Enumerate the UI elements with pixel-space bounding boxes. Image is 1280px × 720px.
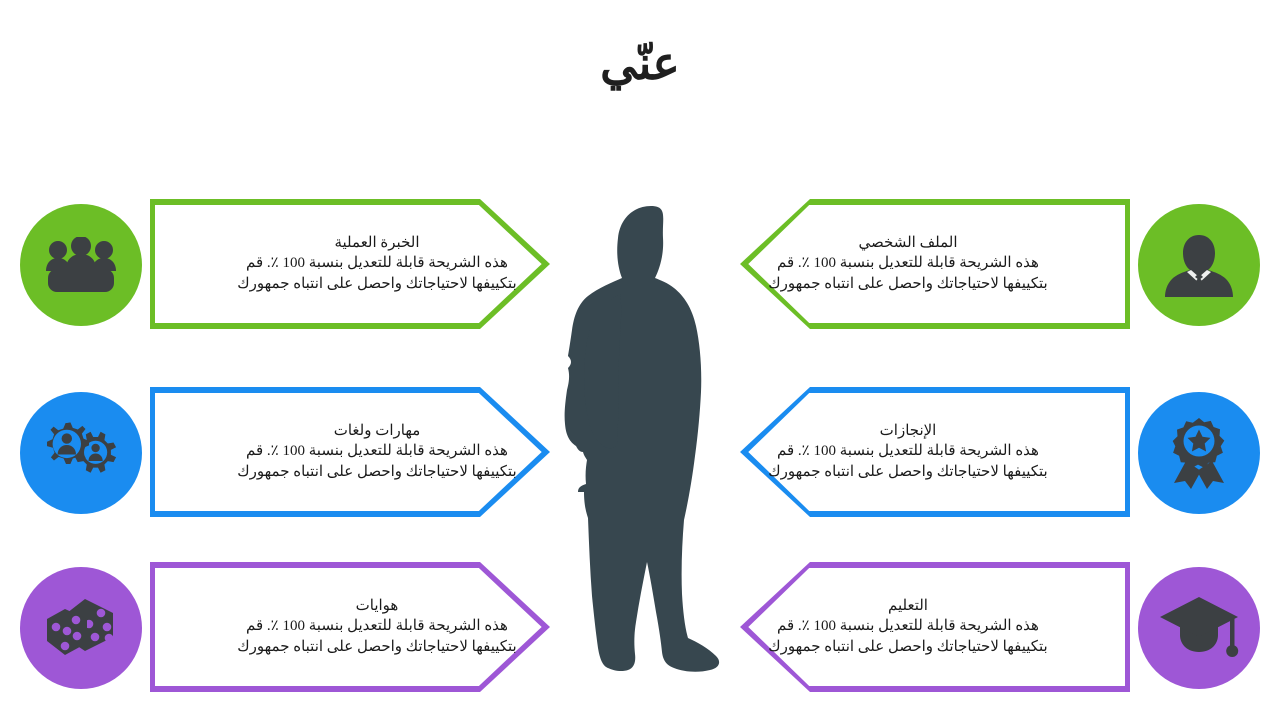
banner-title: الملف الشخصي: [758, 233, 1058, 253]
gears-people-icon[interactable]: [20, 392, 142, 514]
banner-skills-languages[interactable]: مهارات ولغات هذه الشريحة قابلة للتعديل ب…: [150, 387, 550, 517]
group-people-icon[interactable]: [20, 204, 142, 326]
graduation-cap-icon[interactable]: [1138, 567, 1260, 689]
banner-text-block: التعليم هذه الشريحة قابلة للتعديل بنسبة …: [740, 596, 1130, 658]
item-work-experience[interactable]: الخبرة العملية هذه الشريحة قابلة للتعديل…: [20, 199, 550, 329]
banner-text-block: الخبرة العملية هذه الشريحة قابلة للتعديل…: [150, 233, 550, 295]
item-skills-languages[interactable]: مهارات ولغات هذه الشريحة قابلة للتعديل ب…: [20, 387, 550, 517]
banner-text-block: الإنجازات هذه الشريحة قابلة للتعديل بنسب…: [740, 421, 1130, 483]
item-hobbies[interactable]: هوايات هذه الشريحة قابلة للتعديل بنسبة 1…: [20, 562, 550, 692]
award-ribbon-icon[interactable]: [1138, 392, 1260, 514]
banner-title: التعليم: [758, 596, 1058, 616]
banner-description: هذه الشريحة قابلة للتعديل بنسبة 100 ٪. ق…: [758, 441, 1058, 482]
banner-achievements[interactable]: الإنجازات هذه الشريحة قابلة للتعديل بنسب…: [740, 387, 1130, 517]
banner-description: هذه الشريحة قابلة للتعديل بنسبة 100 ٪. ق…: [758, 616, 1058, 657]
item-profile[interactable]: الملف الشخصي هذه الشريحة قابلة للتعديل ب…: [740, 199, 1260, 329]
page-title: عنّي: [0, 36, 1280, 91]
banner-description: هذه الشريحة قابلة للتعديل بنسبة 100 ٪. ق…: [222, 441, 532, 482]
banner-title: هوايات: [222, 596, 532, 616]
businessman-icon[interactable]: [1138, 204, 1260, 326]
banner-education[interactable]: التعليم هذه الشريحة قابلة للتعديل بنسبة …: [740, 562, 1130, 692]
banner-profile[interactable]: الملف الشخصي هذه الشريحة قابلة للتعديل ب…: [740, 199, 1130, 329]
banner-text-block: مهارات ولغات هذه الشريحة قابلة للتعديل ب…: [150, 421, 550, 483]
banner-title: مهارات ولغات: [222, 421, 532, 441]
banner-work-experience[interactable]: الخبرة العملية هذه الشريحة قابلة للتعديل…: [150, 199, 550, 329]
banner-description: هذه الشريحة قابلة للتعديل بنسبة 100 ٪. ق…: [222, 616, 532, 657]
banner-text-block: هوايات هذه الشريحة قابلة للتعديل بنسبة 1…: [150, 596, 550, 658]
banner-text-block: الملف الشخصي هذه الشريحة قابلة للتعديل ب…: [740, 233, 1130, 295]
slide-canvas: عنّي ال: [0, 0, 1280, 720]
person-silhouette-graphic: [556, 198, 746, 682]
banner-title: الخبرة العملية: [222, 233, 532, 253]
item-education[interactable]: التعليم هذه الشريحة قابلة للتعديل بنسبة …: [740, 562, 1260, 692]
banner-description: هذه الشريحة قابلة للتعديل بنسبة 100 ٪. ق…: [222, 253, 532, 294]
dice-icon[interactable]: [20, 567, 142, 689]
item-achievements[interactable]: الإنجازات هذه الشريحة قابلة للتعديل بنسب…: [740, 387, 1260, 517]
banner-hobbies[interactable]: هوايات هذه الشريحة قابلة للتعديل بنسبة 1…: [150, 562, 550, 692]
banner-title: الإنجازات: [758, 421, 1058, 441]
banner-description: هذه الشريحة قابلة للتعديل بنسبة 100 ٪. ق…: [758, 253, 1058, 294]
